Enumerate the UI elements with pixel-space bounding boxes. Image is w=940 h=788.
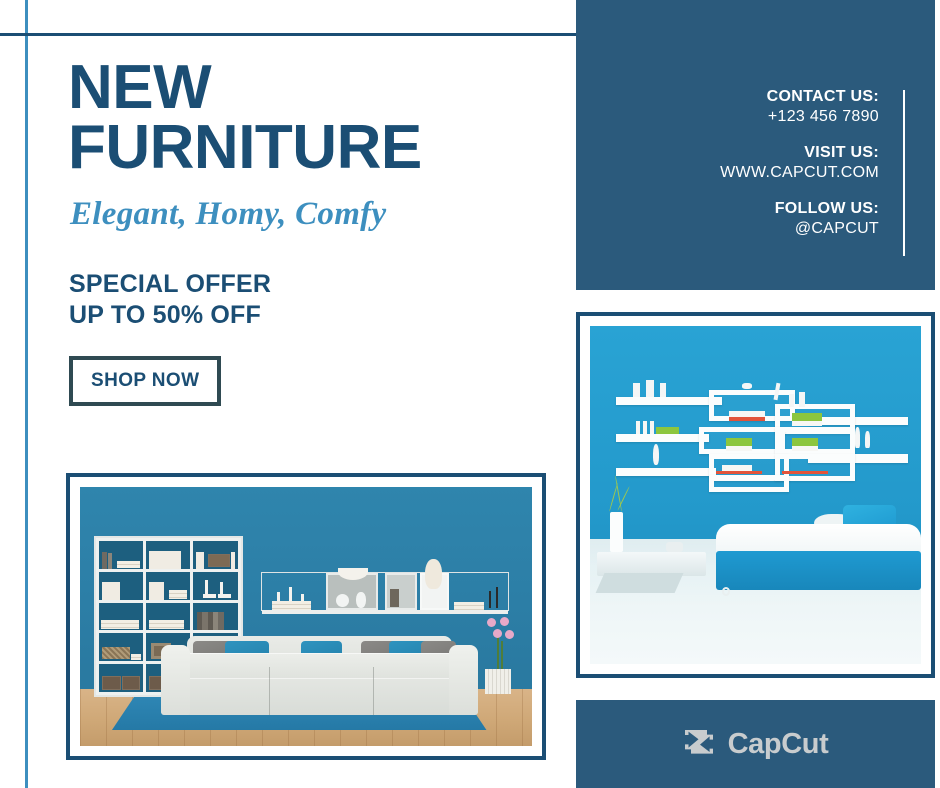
bedroom-photo bbox=[576, 312, 935, 678]
living-room-photo-inner bbox=[80, 487, 532, 746]
capcut-logo: CapCut bbox=[683, 728, 829, 761]
sofa-arm bbox=[449, 645, 477, 715]
contact-group-phone: CONTACT US: +123 456 7890 bbox=[720, 88, 879, 126]
sofa-seat bbox=[171, 653, 468, 679]
shelf-cell bbox=[146, 572, 190, 600]
page-title: NEW FURNITURE bbox=[68, 58, 548, 178]
capcut-bowtie-icon bbox=[683, 728, 717, 761]
orchid-plant bbox=[478, 617, 519, 695]
capcut-wordmark: CapCut bbox=[728, 728, 829, 761]
contact-list: CONTACT US: +123 456 7890 VISIT US: WWW.… bbox=[720, 88, 879, 238]
shelf-cell bbox=[193, 603, 237, 631]
headline-line-2: FURNITURE bbox=[68, 118, 548, 178]
bedroom-photo-inner bbox=[590, 326, 921, 664]
contact-phone-value[interactable]: +123 456 7890 bbox=[720, 108, 879, 126]
shelf-cell bbox=[193, 541, 237, 569]
shelf-cell bbox=[146, 541, 190, 569]
daybed bbox=[716, 515, 921, 589]
bed-base bbox=[716, 551, 921, 590]
shelf-cell bbox=[99, 541, 143, 569]
left-content: NEW FURNITURE Elegant, Homy, Comfy SPECI… bbox=[68, 58, 548, 406]
living-room-scene bbox=[80, 487, 532, 746]
white-vertical-divider bbox=[903, 90, 905, 256]
contact-label: CONTACT US: bbox=[720, 88, 879, 106]
sofa bbox=[161, 629, 477, 714]
contact-website-value[interactable]: WWW.CAPCUT.COM bbox=[720, 164, 879, 182]
sofa-arm bbox=[161, 645, 189, 715]
wall-shelf bbox=[261, 572, 510, 611]
contact-panel: CONTACT US: +123 456 7890 VISIT US: WWW.… bbox=[576, 0, 935, 290]
contact-label: VISIT US: bbox=[720, 144, 879, 162]
offer-line-1: SPECIAL OFFER bbox=[69, 269, 548, 300]
poster-canvas: NEW FURNITURE Elegant, Homy, Comfy SPECI… bbox=[0, 0, 940, 788]
contact-label: FOLLOW US: bbox=[720, 200, 879, 218]
shelf-cell bbox=[99, 603, 143, 631]
table-object bbox=[666, 542, 683, 552]
vase bbox=[610, 512, 623, 553]
shelf-cell bbox=[99, 633, 143, 661]
shelf-cell bbox=[193, 572, 237, 600]
bedroom-scene bbox=[590, 326, 921, 664]
shop-now-button[interactable]: SHOP NOW bbox=[69, 356, 221, 406]
shelf-cell bbox=[146, 603, 190, 631]
offer-line-2: UP TO 50% OFF bbox=[69, 300, 548, 331]
offer-text: SPECIAL OFFER UP TO 50% OFF bbox=[69, 269, 548, 330]
headline-line-1: NEW bbox=[68, 58, 548, 118]
contact-social-value[interactable]: @CAPCUT bbox=[720, 220, 879, 238]
left-accent-line bbox=[25, 0, 28, 788]
contact-group-website: VISIT US: WWW.CAPCUT.COM bbox=[720, 144, 879, 182]
shelf-cell bbox=[99, 572, 143, 600]
mattress bbox=[716, 524, 921, 554]
contact-group-social: FOLLOW US: @CAPCUT bbox=[720, 200, 879, 238]
brand-panel: CapCut bbox=[576, 700, 935, 788]
subtitle: Elegant, Homy, Comfy bbox=[70, 196, 548, 233]
living-room-photo bbox=[66, 473, 546, 760]
low-table-leg bbox=[595, 573, 683, 593]
shelf-cell bbox=[99, 664, 143, 692]
